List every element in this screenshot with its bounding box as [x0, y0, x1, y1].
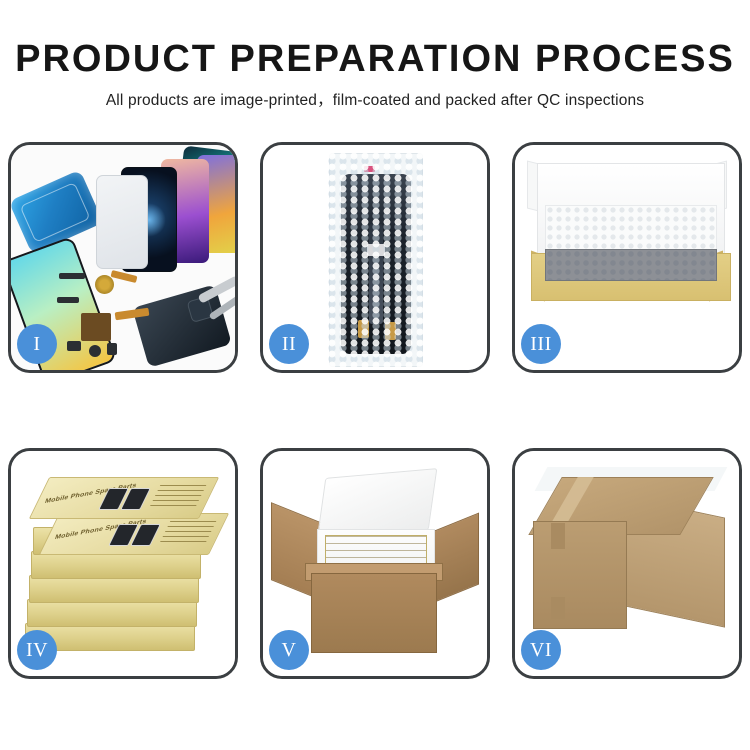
- bubble-wrap-texture: [327, 151, 423, 367]
- header: PRODUCT PREPARATION PROCESS All products…: [0, 0, 750, 110]
- small-part-2-icon: [67, 341, 81, 351]
- step-panel-3: III: [512, 142, 742, 373]
- page-subtitle: All products are image-printed，film-coat…: [0, 91, 750, 110]
- small-part-1-icon: [59, 273, 85, 279]
- step-panel-1: I: [8, 142, 238, 373]
- small-part-5-icon: [57, 297, 79, 303]
- stacked-box-5: [27, 599, 197, 627]
- step-badge-5: V: [269, 630, 309, 670]
- product-preparation-infographic: PRODUCT PREPARATION PROCESS All products…: [0, 0, 750, 750]
- carton-tape-patch-upper-icon: [551, 523, 565, 549]
- step-badge-3: III: [521, 324, 561, 364]
- step-badge-6: VI: [521, 630, 561, 670]
- tempered-glass-icon: [96, 175, 148, 269]
- step-badge-1: I: [17, 324, 57, 364]
- small-part-4-icon: [107, 343, 117, 355]
- stacked-box-4: [29, 575, 199, 603]
- box-spec-lines-front: [159, 521, 217, 545]
- chip-grid-icon: [81, 313, 111, 341]
- carton-tape-patch-lower-icon: [551, 597, 565, 619]
- step-badge-4: IV: [17, 630, 57, 670]
- page-title: PRODUCT PREPARATION PROCESS: [0, 38, 750, 80]
- step-panel-4: Mobile Phone Spare Parts Mobile Phone Sp…: [8, 448, 238, 679]
- stacked-box-top-front: Mobile Phone Spare Parts: [39, 513, 229, 555]
- bubble-wrapped-contents-icon: [545, 249, 717, 281]
- stacked-box-top-back: Mobile Phone Spare Parts: [29, 477, 219, 519]
- stacked-box-3: [31, 551, 201, 579]
- carton-body-icon: [311, 573, 437, 653]
- box-stack: Mobile Phone Spare Parts Mobile Phone Sp…: [25, 473, 225, 653]
- box-spec-lines-back: [149, 485, 207, 509]
- step-panel-6: VI: [512, 448, 742, 679]
- coil-part-icon: [95, 275, 114, 294]
- step-panel-2: II: [260, 142, 490, 373]
- process-steps-grid: I II: [8, 142, 742, 679]
- carton-front-face-icon: [533, 521, 627, 629]
- step-panel-5: V: [260, 448, 490, 679]
- small-part-3-icon: [89, 345, 101, 357]
- step-badge-2: II: [269, 324, 309, 364]
